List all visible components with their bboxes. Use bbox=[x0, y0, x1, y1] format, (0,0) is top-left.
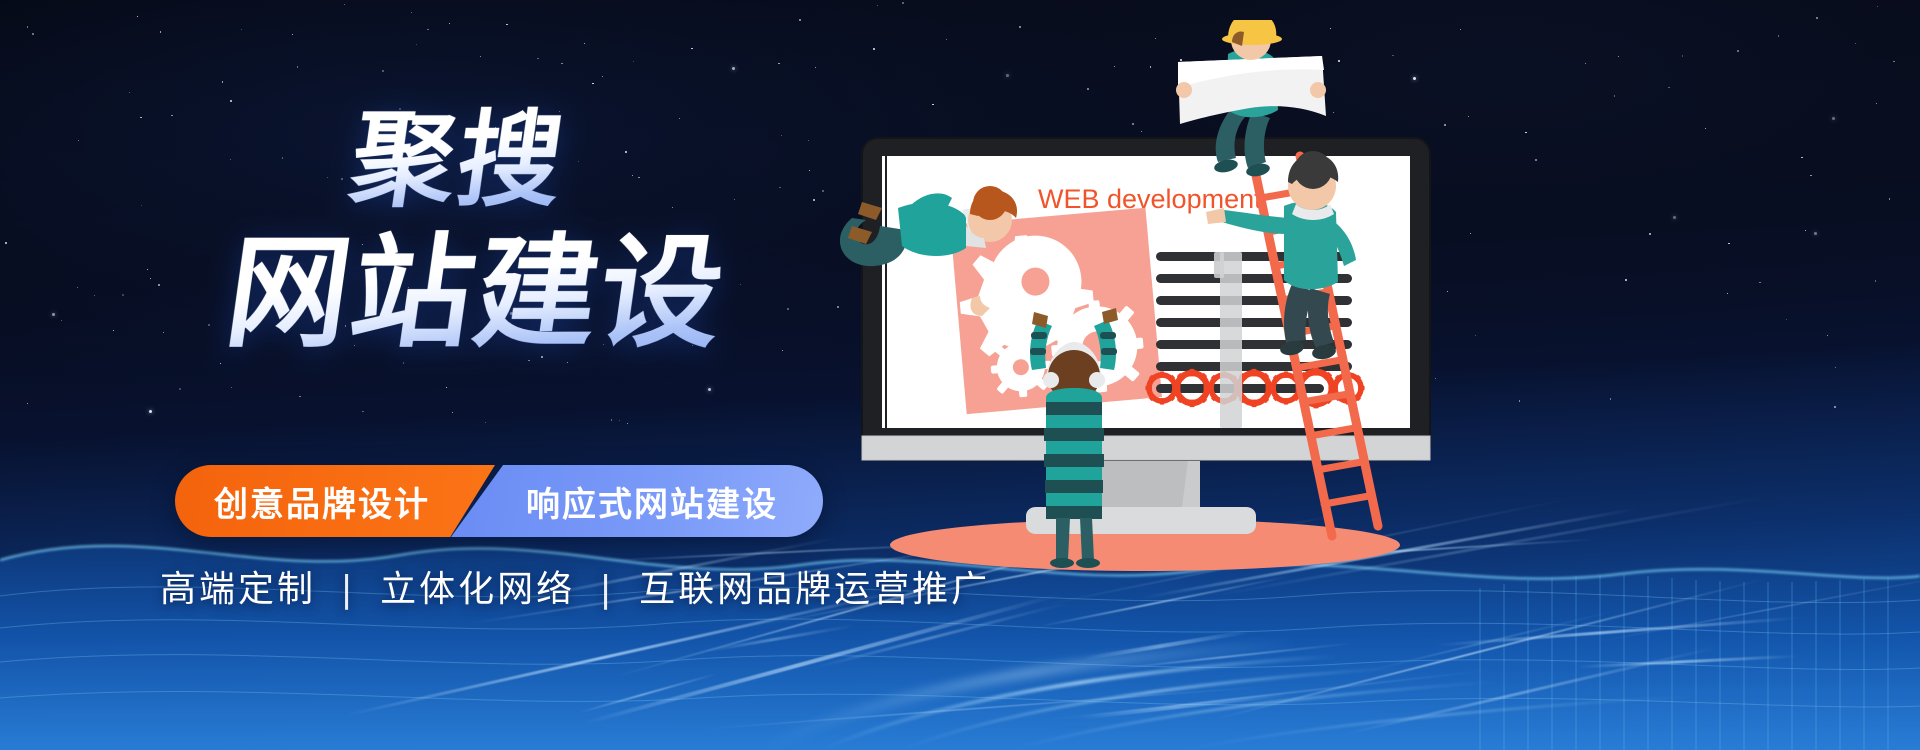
star bbox=[1759, 282, 1760, 283]
star bbox=[1728, 243, 1729, 244]
tagline-item-2: 立体化网络 bbox=[380, 569, 575, 610]
star bbox=[1727, 293, 1728, 294]
star bbox=[1877, 6, 1878, 7]
star bbox=[1876, 103, 1877, 104]
star bbox=[1893, 61, 1894, 62]
tagline-separator-1: | bbox=[330, 569, 365, 610]
star bbox=[1889, 198, 1890, 199]
page-title: 网站建设 bbox=[219, 228, 733, 358]
star bbox=[1786, 319, 1787, 320]
star bbox=[1814, 232, 1817, 235]
star bbox=[1618, 56, 1619, 57]
tagline-item-1: 高端定制 bbox=[160, 569, 316, 610]
light-streak bbox=[1343, 645, 1722, 736]
star bbox=[1682, 55, 1683, 56]
star bbox=[1832, 117, 1835, 120]
grey-block-right bbox=[1220, 252, 1242, 428]
star bbox=[1649, 233, 1651, 235]
star bbox=[1816, 17, 1817, 18]
star bbox=[1625, 279, 1627, 281]
star bbox=[1535, 159, 1537, 161]
star bbox=[1614, 95, 1615, 96]
star bbox=[1668, 87, 1669, 88]
light-streak bbox=[1577, 655, 1799, 669]
badge-segment-creative[interactable]: 创意品牌设计 bbox=[175, 465, 495, 537]
star bbox=[1737, 50, 1739, 52]
screen-heading-text: WEB development bbox=[1038, 184, 1262, 214]
star bbox=[1673, 216, 1676, 219]
star bbox=[1855, 43, 1856, 44]
star bbox=[1875, 280, 1876, 281]
web-development-illustration: WEB development bbox=[840, 20, 1460, 600]
star bbox=[1705, 128, 1706, 129]
service-badge[interactable]: 创意品牌设计 响应式网站建设 bbox=[175, 465, 823, 537]
star bbox=[1805, 230, 1806, 231]
star bbox=[1585, 63, 1586, 64]
star bbox=[1470, 233, 1471, 234]
copy-block: 聚搜 网站建设 创意品牌设计 响应式网站建设 高端定制 | 立体化网络 | 互联… bbox=[0, 0, 900, 750]
star bbox=[1778, 35, 1779, 36]
star bbox=[902, 2, 904, 4]
brand-title: 聚搜 bbox=[344, 104, 572, 216]
star bbox=[1468, 116, 1469, 117]
hero-banner: 聚搜 网站建设 创意品牌设计 响应式网站建设 高端定制 | 立体化网络 | 互联… bbox=[0, 0, 1920, 750]
badge-segment-responsive[interactable]: 响应式网站建设 bbox=[451, 465, 823, 537]
star bbox=[1525, 132, 1526, 133]
star bbox=[1810, 175, 1811, 176]
tagline-separator-2: | bbox=[590, 569, 625, 610]
star bbox=[1801, 157, 1802, 158]
light-streak bbox=[1435, 616, 1801, 647]
